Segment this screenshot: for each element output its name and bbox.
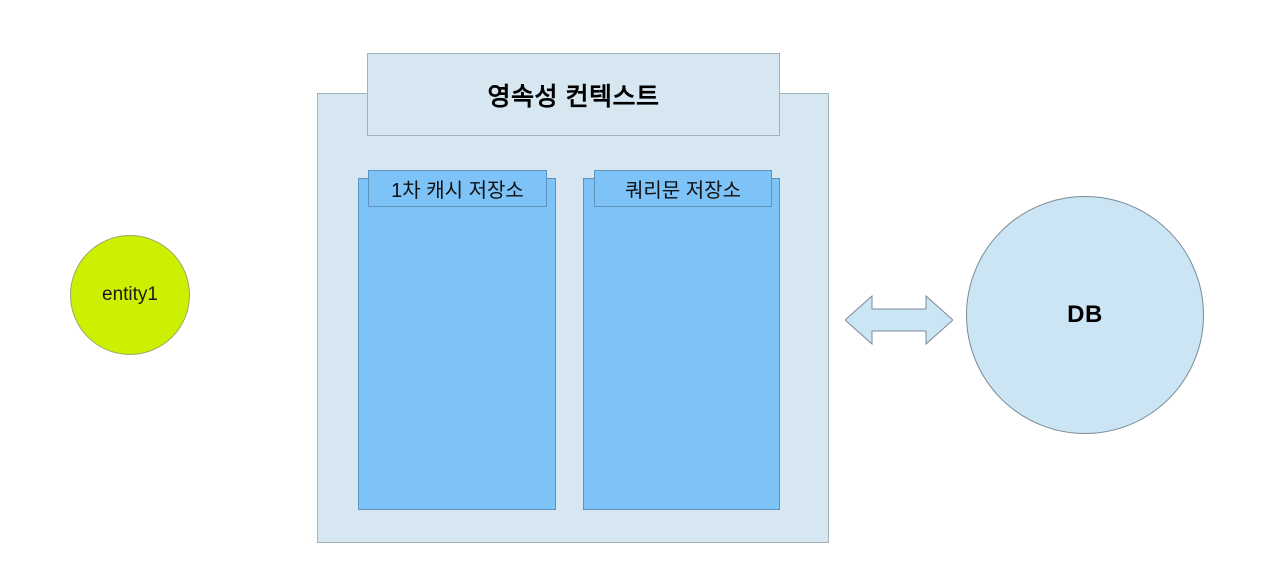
entity-node: entity1 (70, 235, 190, 355)
query-store-label: 쿼리문 저장소 (594, 170, 772, 207)
persistence-context-title-box: 영속성 컨텍스트 (367, 53, 780, 136)
database-node: DB (966, 196, 1204, 434)
db-connector (845, 293, 953, 347)
query-store-box (583, 178, 780, 510)
first-level-cache-store-box (358, 178, 556, 510)
database-label: DB (1067, 301, 1103, 329)
first-level-cache-store-label-text: 1차 캐시 저장소 (391, 174, 524, 203)
double-headed-arrow-icon (845, 293, 953, 347)
first-level-cache-store-label: 1차 캐시 저장소 (368, 170, 547, 207)
diagram-canvas: entity1 1차 캐시 저장소 쿼리문 저장소 영속성 컨텍스트 DB (0, 0, 1280, 575)
query-store-label-text: 쿼리문 저장소 (625, 174, 741, 203)
persistence-context-title: 영속성 컨텍스트 (488, 77, 660, 113)
entity-label: entity1 (102, 284, 158, 306)
